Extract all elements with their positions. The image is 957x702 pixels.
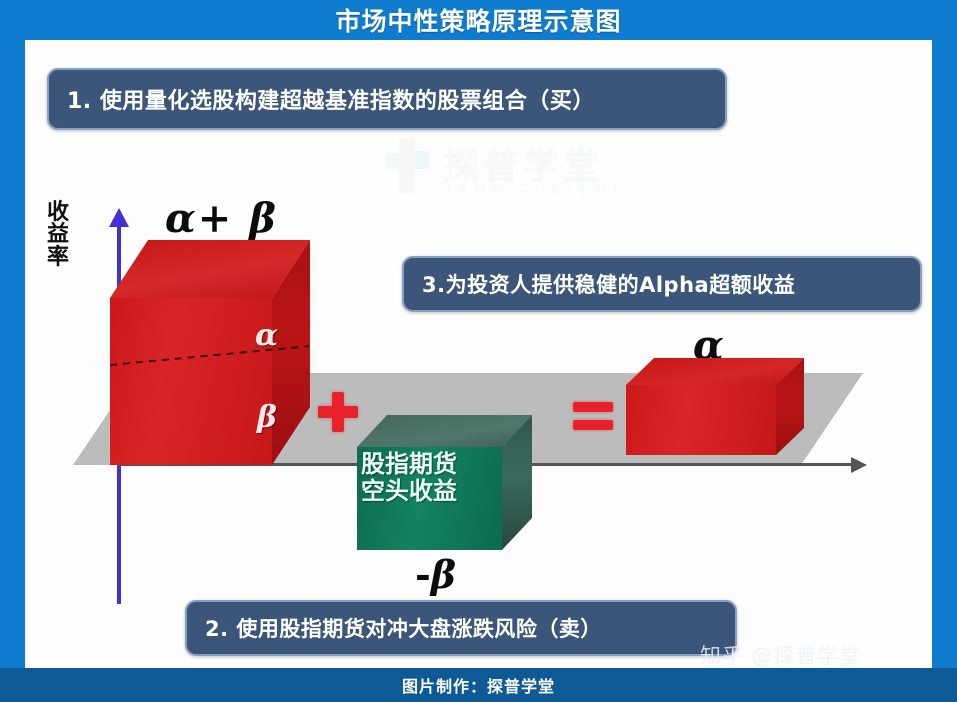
futures-box-top-face (357, 415, 532, 447)
portfolio-cube-front-face (110, 298, 272, 465)
futures-box-label: 股指期货 空头收益 (361, 451, 511, 505)
footer-credit: 图片制作：探普学堂 (402, 673, 555, 697)
portfolio-beta-label: β (257, 400, 277, 435)
callout-step-1[interactable]: 1. 使用量化选股构建超越基准指数的股票组合（买） (47, 68, 727, 130)
portfolio-total-label: α+ β (165, 195, 278, 242)
diagram-canvas: 探普学堂 TAMP COLLEGE 1. 使用量化选股构建超越基准指数的股票组合… (25, 40, 932, 668)
portfolio-alpha-label: α (255, 318, 278, 353)
brand-watermark: 探普学堂 TAMP COLLEGE (375, 135, 640, 205)
callout-step-2[interactable]: 2. 使用股指期货对冲大盘涨跌风险（卖） (185, 600, 737, 656)
result-box-front-face (626, 385, 776, 455)
brand-name-en: TAMP COLLEGE (445, 181, 629, 196)
footer-bar: 图片制作：探普学堂 (0, 668, 957, 702)
title-bar: 市场中性策略原理示意图 (0, 0, 957, 40)
callout-step-1-label: 1. 使用量化选股构建超越基准指数的股票组合（买） (67, 83, 595, 115)
callout-step-2-label: 2. 使用股指期货对冲大盘涨跌风险（卖） (205, 613, 602, 643)
callout-step-3[interactable]: 3.为投资人提供稳健的Alpha超额收益 (402, 256, 922, 312)
result-box (626, 358, 804, 455)
futures-box-label-line2: 空头收益 (361, 478, 511, 505)
brand-name-cn: 探普学堂 (443, 137, 603, 189)
x-axis-arrow-icon (851, 457, 867, 473)
tamp-logo-icon (385, 139, 431, 193)
result-box-top-face (626, 358, 804, 385)
zhihu-watermark: 知乎 @探普学堂 (700, 640, 862, 670)
plus-operator-icon (318, 392, 358, 432)
portfolio-cube: α β (110, 240, 310, 465)
futures-box: 股指期货 空头收益 (357, 415, 532, 550)
callout-step-3-label: 3.为投资人提供稳健的Alpha超额收益 (422, 269, 795, 299)
page-title: 市场中性策略原理示意图 (335, 2, 621, 38)
futures-box-label-line1: 股指期货 (361, 451, 511, 478)
screenshot-root: 市场中性策略原理示意图 探普学堂 TAMP COLLEGE 1. 使用量化选股构… (0, 0, 957, 702)
equals-operator-icon (573, 402, 613, 430)
futures-negbeta-label: -β (415, 552, 456, 597)
y-axis-label: 收益率 (43, 202, 73, 269)
